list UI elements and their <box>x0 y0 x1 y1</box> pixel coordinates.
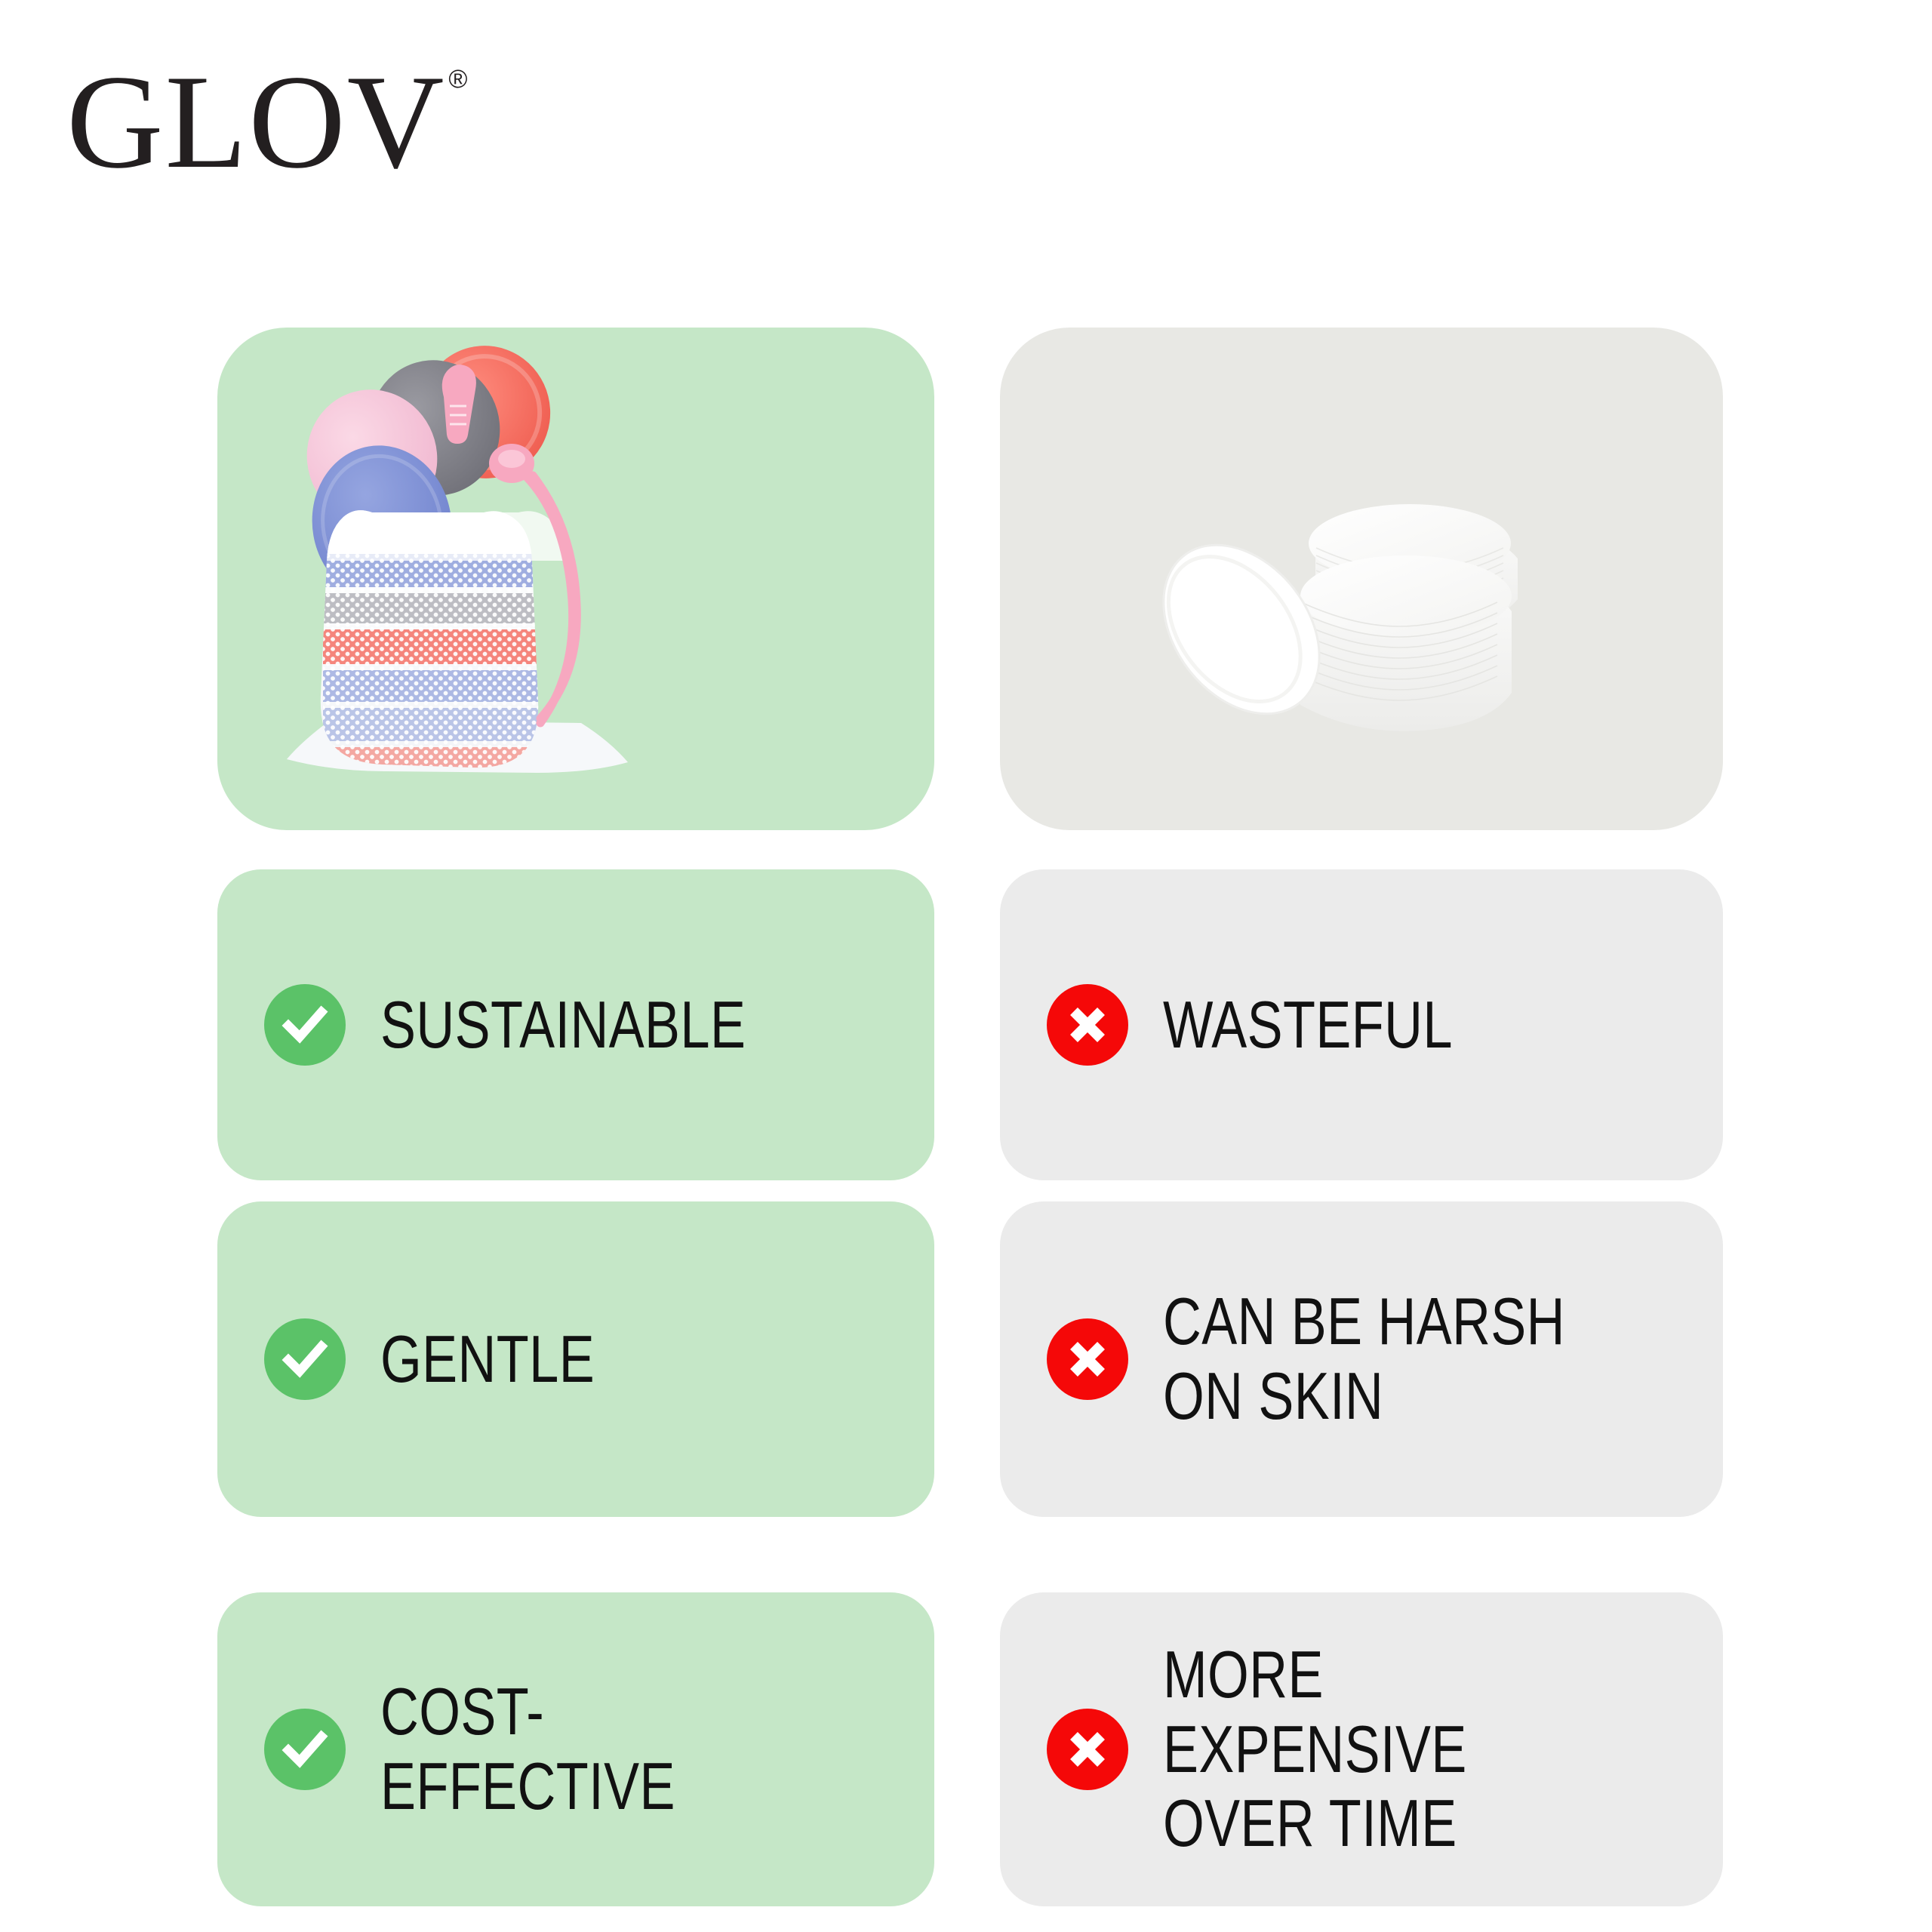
reusable-product-image-panel <box>217 328 934 830</box>
feature-label: WASTEFUL <box>1163 988 1453 1063</box>
disposable-cotton-pads-image <box>1000 328 1723 830</box>
feature-row-wasteful: WASTEFUL <box>1000 869 1723 1180</box>
feature-label: CAN BE HARSH ON SKIN <box>1163 1284 1565 1433</box>
cross-icon <box>1047 984 1128 1066</box>
feature-label: GENTLE <box>380 1322 595 1397</box>
feature-label: SUSTAINABLE <box>380 988 746 1063</box>
feature-label: MORE EXPENSIVE OVER TIME <box>1163 1638 1611 1861</box>
brand-logo: GLOV ® <box>66 54 467 189</box>
cross-icon <box>1047 1709 1128 1790</box>
registered-trademark-icon: ® <box>448 66 467 92</box>
reusable-pads-and-mesh-bag-image <box>217 328 934 830</box>
feature-row-more-expensive: MORE EXPENSIVE OVER TIME <box>1000 1592 1723 1906</box>
cross-icon <box>1047 1318 1128 1400</box>
feature-label: COST-EFFECTIVE <box>380 1675 823 1823</box>
feature-row-sustainable: SUSTAINABLE <box>217 869 934 1180</box>
brand-wordmark: GLOV <box>66 54 445 189</box>
check-icon <box>264 1709 346 1790</box>
feature-row-cost-effective: COST-EFFECTIVE <box>217 1592 934 1906</box>
disposable-product-image-panel <box>1000 328 1723 830</box>
check-icon <box>264 1318 346 1400</box>
feature-row-gentle: GENTLE <box>217 1201 934 1517</box>
check-icon <box>264 984 346 1066</box>
feature-row-harsh-on-skin: CAN BE HARSH ON SKIN <box>1000 1201 1723 1517</box>
